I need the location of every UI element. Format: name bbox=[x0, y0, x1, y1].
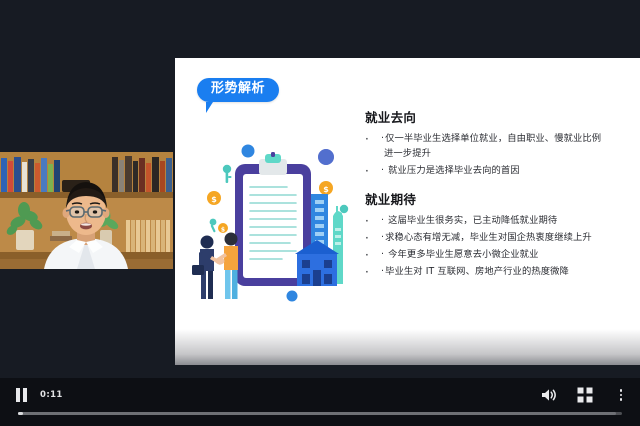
slide-section-1: 就业去向 ·仅一半毕业生选择单位就业，自由职业、慢就业比例 进一步提升 · 就业… bbox=[365, 110, 627, 178]
bullet-text: 就业压力是选择毕业去向的首因 bbox=[388, 165, 520, 176]
pause-icon bbox=[16, 388, 27, 402]
bullet-item: · 就业压力是选择毕业去向的首因 bbox=[365, 163, 627, 178]
exit-fullscreen-icon bbox=[577, 387, 593, 403]
bullet-text: 仅一半毕业生选择单位就业，自由职业、慢就业比例 bbox=[385, 133, 601, 144]
presentation-slide: 形势解析 bbox=[175, 58, 640, 365]
bullet-lead-dot: · bbox=[381, 215, 384, 226]
bullet-text-continued: 进一步提升 bbox=[381, 146, 627, 161]
progress-played bbox=[18, 412, 23, 415]
svg-text:$: $ bbox=[211, 195, 217, 204]
section-bullet-list: · 这届毕业生很务实，已主动降低就业期待 ·求稳心态有增无减，毕业生对国企热衷度… bbox=[365, 213, 627, 279]
volume-button[interactable] bbox=[540, 386, 558, 404]
bullet-lead-dot: · bbox=[381, 133, 384, 144]
slide-bottom-shadow bbox=[175, 329, 640, 365]
section-bullet-list: ·仅一半毕业生选择单位就业，自由职业、慢就业比例 进一步提升 · 就业压力是选择… bbox=[365, 131, 627, 178]
slide-title-badge-label: 形势解析 bbox=[197, 78, 279, 102]
bullet-lead-dot: · bbox=[381, 165, 384, 176]
presenter-video-inset[interactable] bbox=[0, 152, 173, 269]
section-heading: 就业去向 bbox=[365, 110, 627, 125]
bullet-item: ·毕业生对 IT 互联网、房地产行业的热度微降 bbox=[365, 264, 627, 279]
slide-text-column: 就业去向 ·仅一半毕业生选择单位就业，自由职业、慢就业比例 进一步提升 · 就业… bbox=[365, 110, 627, 293]
video-player: 形势解析 bbox=[0, 0, 640, 426]
bullet-text: 这届毕业生很务实，已主动降低就业期待 bbox=[388, 215, 557, 226]
section-heading: 就业期待 bbox=[365, 192, 627, 207]
bullet-item: · 今年更多毕业生愿意去小微企业就业 bbox=[365, 247, 627, 262]
bullet-item: · 这届毕业生很务实，已主动降低就业期待 bbox=[365, 213, 627, 228]
more-options-button[interactable] bbox=[612, 386, 630, 404]
slide-title-badge: 形势解析 bbox=[197, 78, 279, 102]
bullet-lead-dot: · bbox=[381, 249, 384, 260]
bullet-text: 今年更多毕业生愿意去小微企业就业 bbox=[388, 249, 538, 260]
bullet-text: 求稳心态有增无减，毕业生对国企热衷度继续上升 bbox=[385, 232, 592, 243]
pause-button[interactable] bbox=[12, 386, 30, 404]
progress-bar[interactable] bbox=[18, 412, 622, 415]
bullet-lead-dot: · bbox=[381, 266, 384, 277]
bullet-lead-dot: · bbox=[381, 232, 384, 243]
fullscreen-button[interactable] bbox=[576, 386, 594, 404]
more-options-icon bbox=[620, 389, 623, 401]
current-time-label: 0:11 bbox=[40, 390, 63, 400]
slide-section-2: 就业期待 · 这届毕业生很务实，已主动降低就业期待 ·求稳心态有增无减，毕业生对… bbox=[365, 192, 627, 279]
volume-on-icon bbox=[541, 388, 557, 402]
svg-text:$: $ bbox=[323, 185, 329, 194]
bullet-item: ·仅一半毕业生选择单位就业，自由职业、慢就业比例 进一步提升 bbox=[365, 131, 627, 161]
bullet-text: 毕业生对 IT 互联网、房地产行业的热度微降 bbox=[385, 266, 569, 277]
badge-tail bbox=[206, 102, 217, 113]
svg-text:$: $ bbox=[221, 227, 225, 234]
progress-buffered bbox=[18, 412, 616, 415]
player-controls-bar: 0:11 bbox=[0, 378, 640, 426]
bullet-item: ·求稳心态有增无减，毕业生对国企热衷度继续上升 bbox=[365, 230, 627, 245]
employment-clipboard-illustration: $ $ $ $ bbox=[187, 136, 362, 311]
